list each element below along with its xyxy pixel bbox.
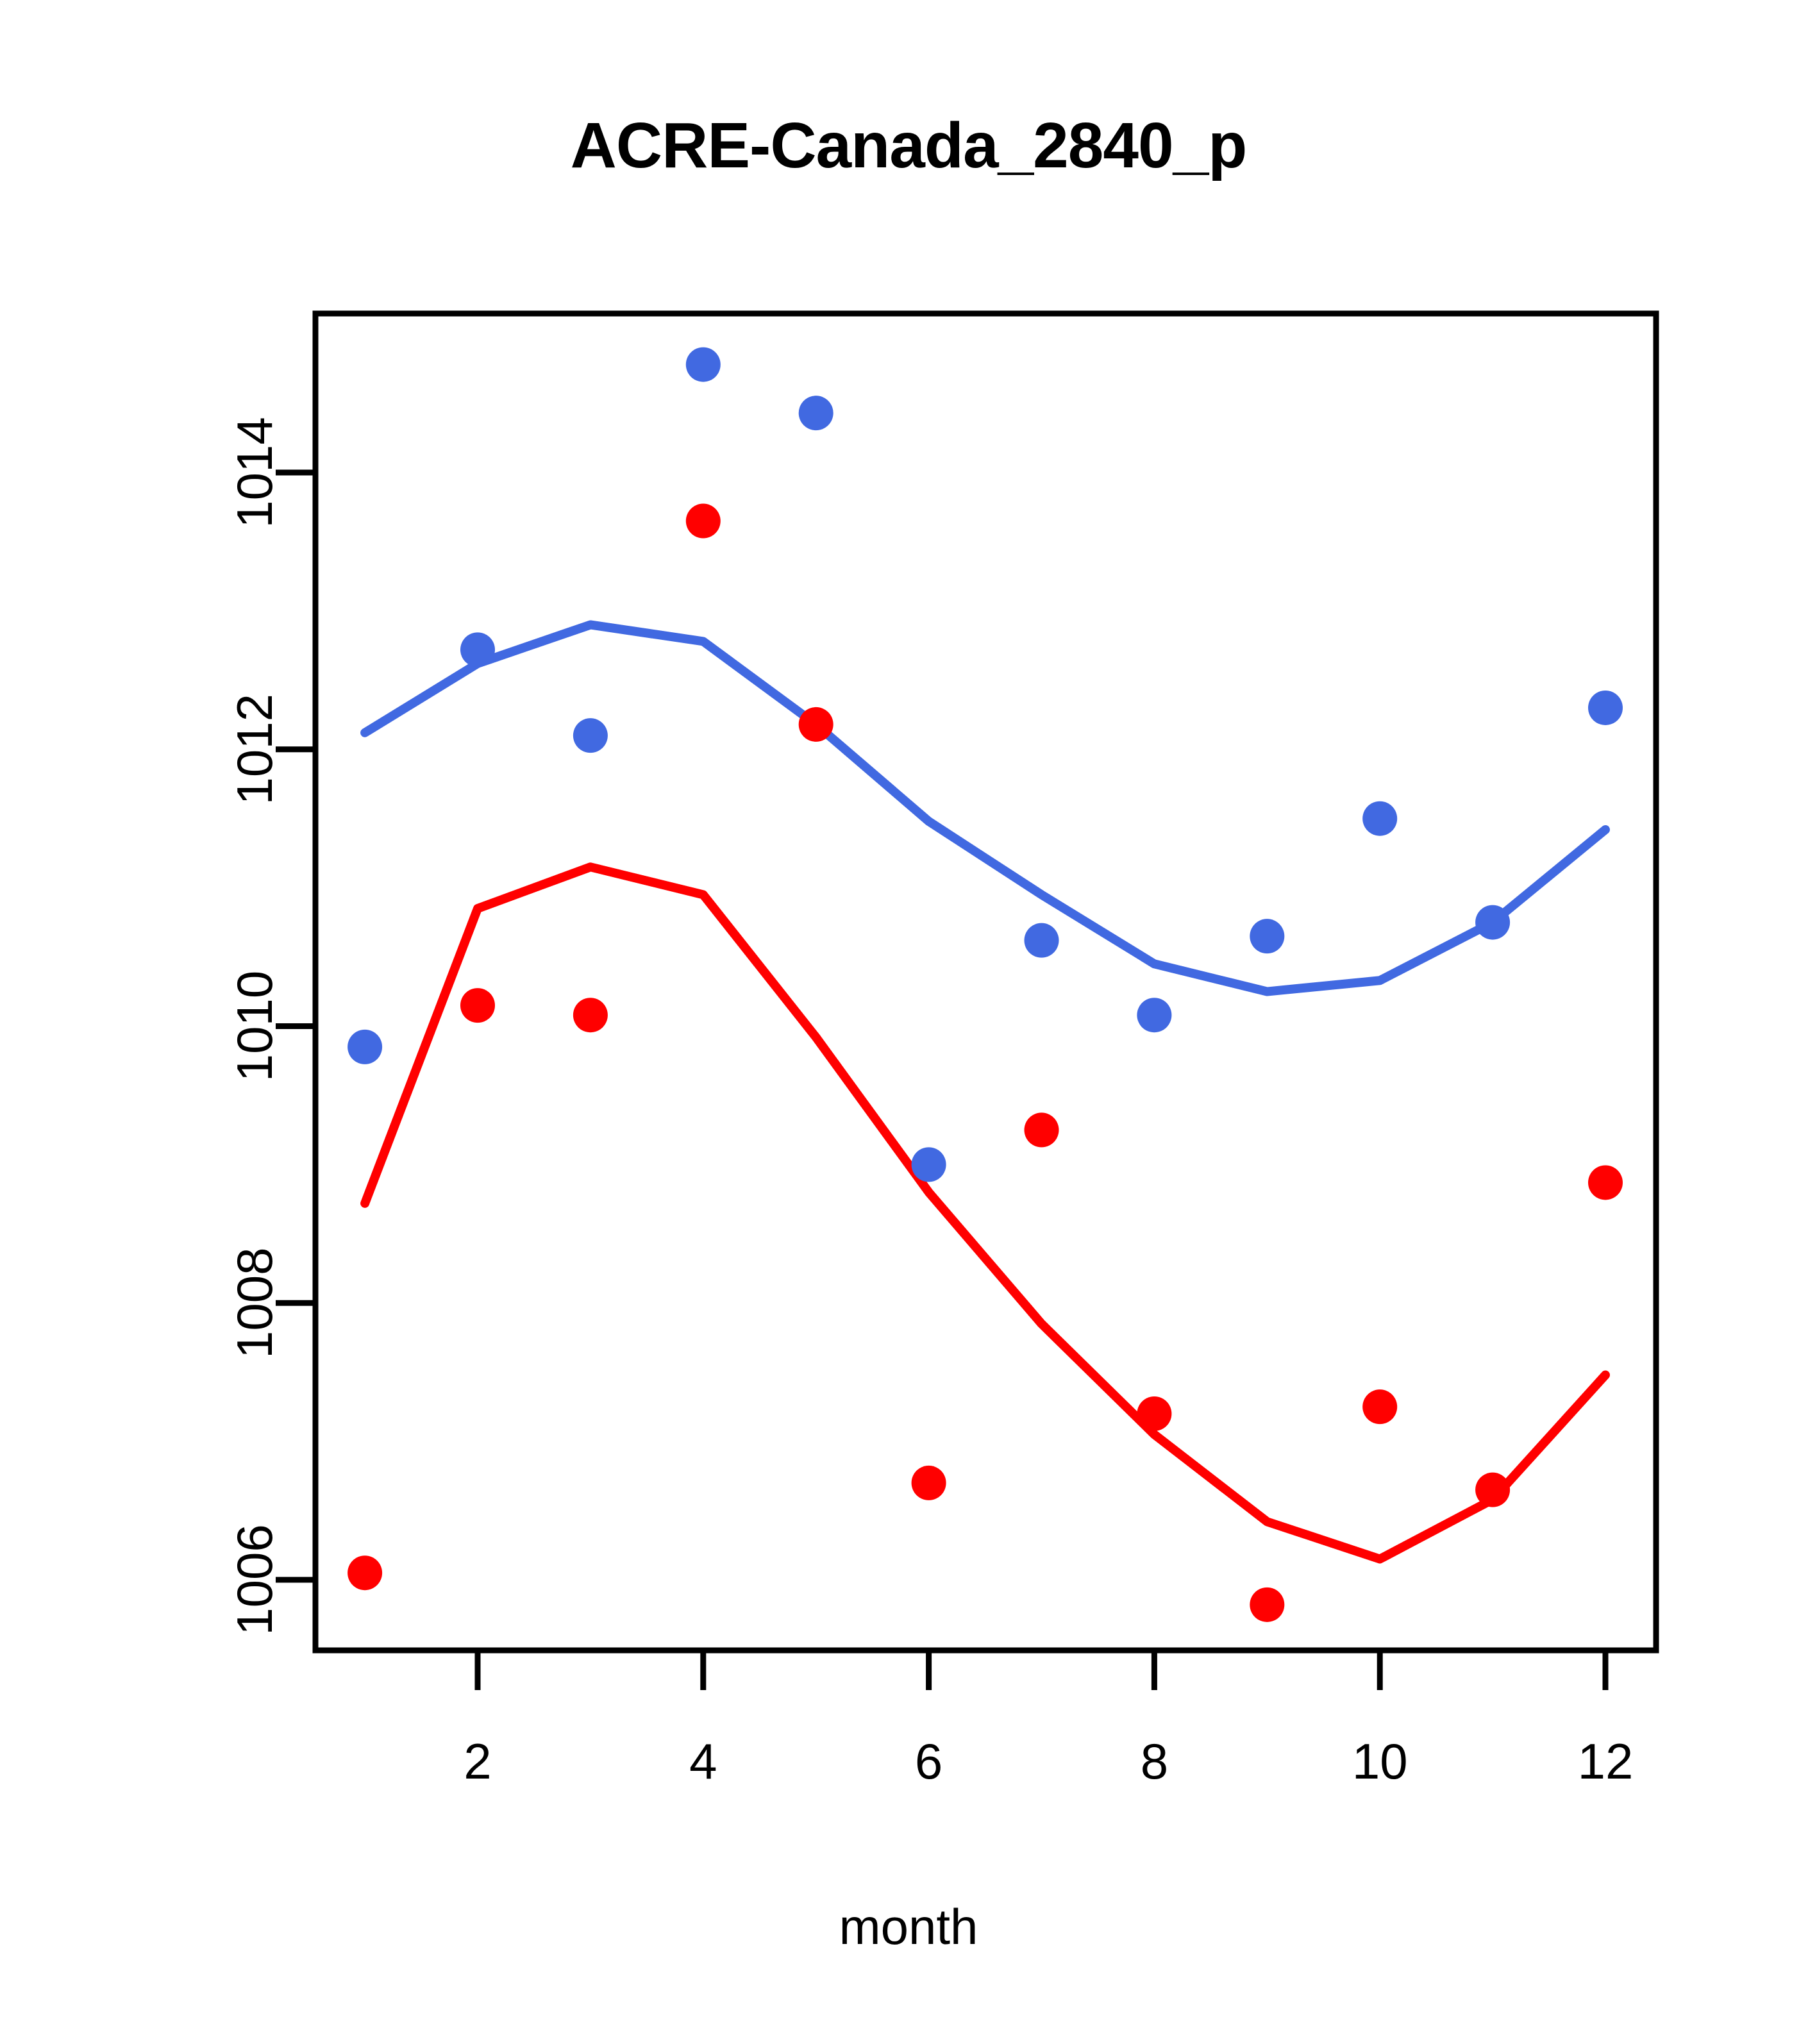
series-line-blue-line	[365, 624, 1605, 991]
data-point-blue-points	[460, 632, 495, 667]
x-axis-tick-label: 4	[689, 1733, 717, 1789]
x-axis-tick-label: 2	[464, 1733, 491, 1789]
x-axis-tick-label: 8	[1141, 1733, 1168, 1789]
y-axis-tick-label: 1008	[226, 1247, 283, 1359]
x-axis-label: month	[0, 1898, 1817, 1956]
data-point-red-points	[1137, 1396, 1171, 1431]
data-point-red-points	[799, 707, 833, 742]
data-point-red-points	[573, 998, 608, 1032]
data-point-red-points	[1362, 1389, 1397, 1424]
y-axis-tick-label: 1012	[226, 694, 283, 805]
data-point-red-points	[912, 1466, 946, 1500]
series-line-red-line	[365, 867, 1605, 1559]
data-point-blue-points	[1025, 923, 1059, 958]
data-point-red-points	[1250, 1587, 1284, 1622]
data-point-red-points	[686, 504, 721, 539]
data-point-red-points	[460, 988, 495, 1023]
data-point-red-points	[347, 1555, 382, 1590]
data-point-blue-points	[799, 396, 833, 430]
data-point-red-points	[1475, 1473, 1510, 1507]
x-axis-tick-label: 12	[1578, 1733, 1634, 1789]
x-axis-tick-label: 10	[1352, 1733, 1408, 1789]
data-point-blue-points	[912, 1147, 946, 1182]
plot-figure: ACRE-Canada_2840_p 100610081010101210142…	[0, 0, 1817, 2044]
data-point-blue-points	[347, 1030, 382, 1064]
data-point-blue-points	[573, 718, 608, 753]
y-axis-tick-label: 1014	[226, 417, 283, 528]
data-point-blue-points	[1250, 919, 1284, 953]
data-point-blue-points	[1588, 691, 1623, 725]
data-point-blue-points	[1475, 905, 1510, 940]
plot-box-frame	[315, 314, 1656, 1650]
data-point-blue-points	[686, 348, 721, 382]
y-axis-tick-label: 1010	[226, 971, 283, 1082]
x-axis-tick-label: 6	[915, 1733, 942, 1789]
data-point-red-points	[1588, 1165, 1623, 1200]
data-point-red-points	[1025, 1112, 1059, 1147]
y-axis-tick-label: 1006	[226, 1524, 283, 1636]
data-point-blue-points	[1137, 998, 1171, 1032]
chart-canvas: 1006100810101012101424681012	[0, 0, 1817, 2044]
data-point-blue-points	[1362, 801, 1397, 836]
